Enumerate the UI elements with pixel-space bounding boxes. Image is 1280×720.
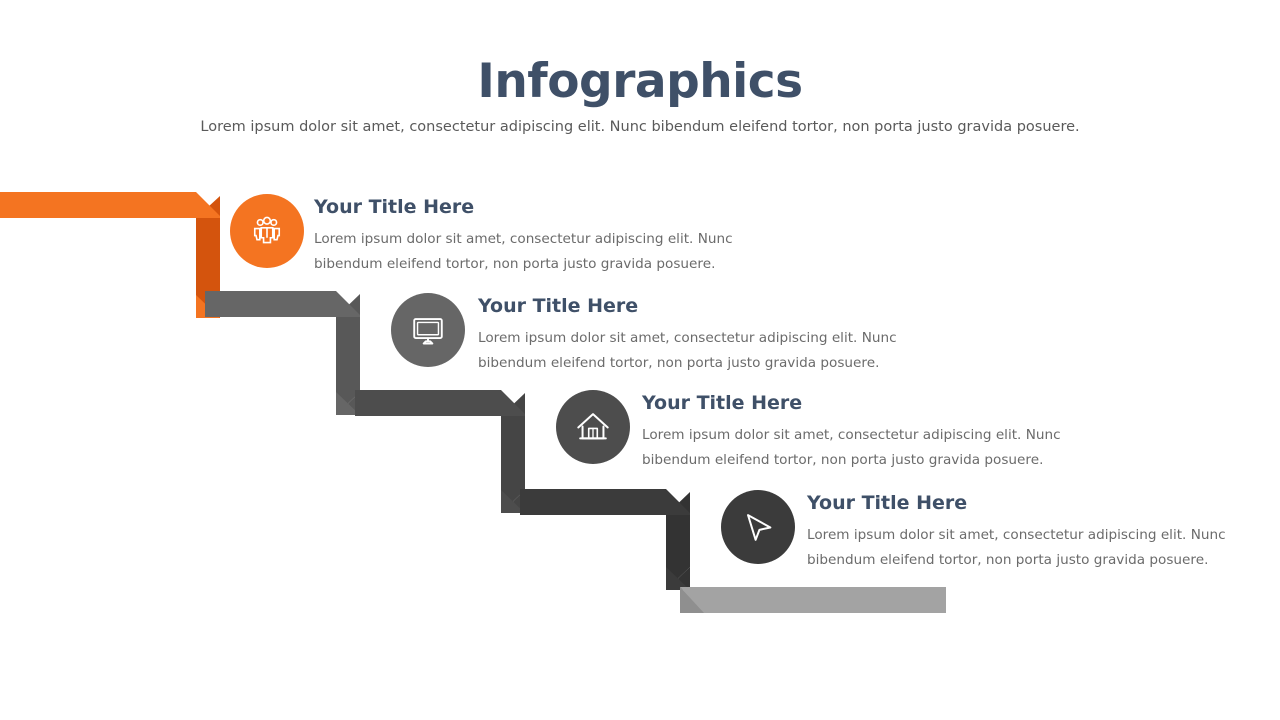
ribbon-segment-2-knee: [336, 392, 360, 415]
ribbon-segment-3-knee: [501, 490, 525, 513]
ribbon-segment-4-side: [666, 492, 690, 590]
step-1-body: Lorem ipsum dolor sit amet, consectetur …: [314, 217, 734, 277]
desktop-monitor-icon: [409, 311, 447, 349]
step-4-body: Lorem ipsum dolor sit amet, consectetur …: [807, 513, 1227, 573]
page-title: Infographics: [0, 58, 1280, 105]
ribbon-segment-4-top: [520, 489, 690, 515]
slide-header: Infographics Lorem ipsum dolor sit amet,…: [0, 58, 1280, 136]
ribbon-segment-1-side: [196, 196, 220, 318]
ribbon-segment-4-knee: [666, 567, 690, 590]
ribbon-segment-1-foot: [196, 295, 220, 318]
ribbon-segment-3: [355, 390, 525, 513]
step-1-title: Your Title Here: [314, 194, 734, 217]
step-3-title: Your Title Here: [642, 390, 1062, 413]
step-2-body: Lorem ipsum dolor sit amet, consectetur …: [478, 316, 898, 376]
ribbon-segment-2: [205, 291, 360, 415]
step-1-icon-circle[interactable]: [230, 194, 304, 268]
ribbon-segment-3-foot: [501, 490, 525, 513]
step-2-text-block: Your Title Here Lorem ipsum dolor sit am…: [478, 293, 898, 376]
ribbon-segment-2-side: [336, 294, 360, 415]
step-4-title: Your Title Here: [807, 490, 1227, 513]
ribbon-segment-2-top: [205, 291, 360, 317]
step-1-text-block: Your Title Here Lorem ipsum dolor sit am…: [314, 194, 734, 277]
ribbon-segment-2-foot: [336, 392, 360, 415]
home-house-icon: [574, 408, 612, 446]
infographic-slide: Infographics Lorem ipsum dolor sit amet,…: [0, 0, 1280, 720]
ribbon-segment-final: [680, 587, 946, 613]
ribbon-segment-1-top: [0, 192, 220, 218]
step-3-text-block: Your Title Here Lorem ipsum dolor sit am…: [642, 390, 1062, 473]
ribbon-segment-4-foot: [666, 567, 690, 590]
ribbon-segment-1: [0, 192, 220, 318]
page-subtitle: Lorem ipsum dolor sit amet, consectetur …: [0, 105, 1280, 136]
mouse-cursor-icon: [739, 508, 777, 546]
people-group-icon: [249, 213, 285, 249]
step-3-body: Lorem ipsum dolor sit amet, consectetur …: [642, 413, 1062, 473]
ribbon-segment-3-side: [501, 393, 525, 513]
step-2-title: Your Title Here: [478, 293, 898, 316]
step-2-icon-circle[interactable]: [391, 293, 465, 367]
step-4-text-block: Your Title Here Lorem ipsum dolor sit am…: [807, 490, 1227, 573]
ribbon-segment-3-top: [355, 390, 525, 416]
step-4-icon-circle[interactable]: [721, 490, 795, 564]
ribbon-segment-final-bevel: [680, 587, 704, 613]
ribbon-segment-4: [520, 489, 690, 590]
step-3-icon-circle[interactable]: [556, 390, 630, 464]
ribbon-segment-1-knee: [196, 295, 220, 318]
ribbon-segment-final-bar: [680, 587, 946, 613]
